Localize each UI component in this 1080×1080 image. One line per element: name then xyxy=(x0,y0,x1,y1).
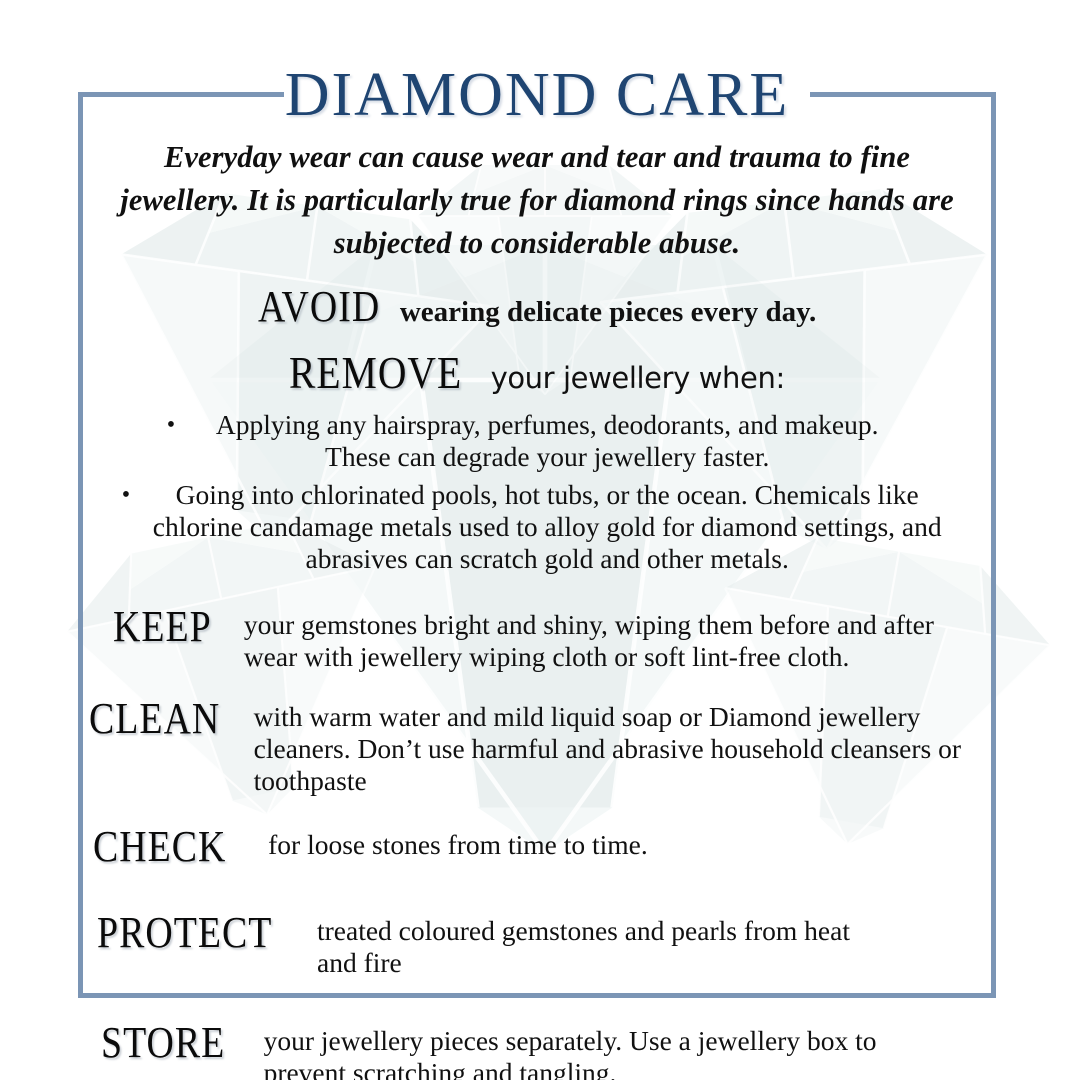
tip-row-clean: CLEAN with warm water and mild liquid so… xyxy=(83,693,991,797)
bullet-text: Applying any hairspray, perfumes, deodor… xyxy=(187,409,907,473)
tip-row-keep: KEEP your gemstones bright and shiny, wi… xyxy=(83,601,991,673)
list-item: • Going into chlorinated pools, hot tubs… xyxy=(83,479,991,575)
bullet-dot-icon: • xyxy=(167,409,175,441)
avoid-body: wearing delicate pieces every day. xyxy=(400,294,816,330)
avoid-keyword: AVOID xyxy=(258,281,380,332)
check-body: for loose stones from time to time. xyxy=(268,821,991,861)
store-keyword-cell: STORE xyxy=(101,1017,246,1067)
protect-keyword: PROTECT xyxy=(97,909,272,957)
remove-keyword: REMOVE xyxy=(289,346,462,399)
diamond-care-infographic: DIAMOND CARE Everyday wear can cause wea… xyxy=(0,0,1080,1080)
list-item: • Applying any hairspray, perfumes, deod… xyxy=(83,409,991,473)
avoid-row: AVOID wearing delicate pieces every day. xyxy=(83,281,991,332)
protect-keyword-cell: PROTECT xyxy=(97,907,301,957)
keep-body: your gemstones bright and shiny, wiping … xyxy=(244,601,974,673)
bullet-text: Going into chlorinated pools, hot tubs, … xyxy=(142,479,952,575)
remove-bullet-list: • Applying any hairspray, perfumes, deod… xyxy=(83,409,991,575)
clean-keyword-cell: CLEAN xyxy=(89,693,242,743)
clean-keyword: CLEAN xyxy=(89,695,220,743)
remove-body: your jewellery when: xyxy=(491,360,785,396)
store-keyword: STORE xyxy=(101,1019,225,1067)
tip-row-protect: PROTECT treated coloured gemstones and p… xyxy=(83,907,991,979)
store-body: your jewellery pieces separately. Use a … xyxy=(264,1017,924,1080)
tip-row-check: CHECK for loose stones from time to time… xyxy=(83,821,991,871)
check-keyword: CHECK xyxy=(93,823,226,871)
keep-keyword-cell: KEEP xyxy=(113,601,228,651)
check-keyword-cell: CHECK xyxy=(93,821,248,871)
tip-row-store: STORE your jewellery pieces separately. … xyxy=(83,1017,991,1080)
remove-row: REMOVE your jewellery when: xyxy=(83,346,991,399)
keep-keyword: KEEP xyxy=(113,603,212,651)
frame-right-rule xyxy=(991,92,996,998)
clean-body: with warm water and mild liquid soap or … xyxy=(254,693,991,797)
bullet-dot-icon: • xyxy=(122,479,130,511)
protect-body: treated coloured gemstones and pearls fr… xyxy=(317,907,877,979)
page-title: DIAMOND CARE xyxy=(83,60,991,130)
intro-paragraph: Everyday wear can cause wear and tear an… xyxy=(117,136,957,265)
content-area: DIAMOND CARE Everyday wear can cause wea… xyxy=(83,60,991,1080)
